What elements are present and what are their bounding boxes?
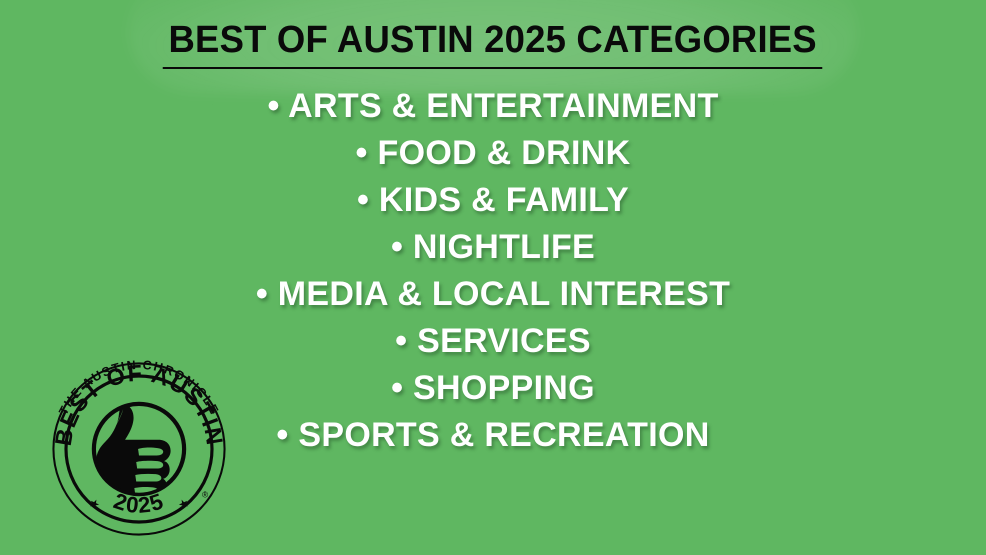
category-label: ARTS & ENTERTAINMENT: [288, 87, 718, 125]
category-label: SPORTS & RECREATION: [298, 416, 709, 454]
bullet-icon: •: [256, 275, 268, 313]
bullet-icon: •: [391, 369, 403, 407]
list-item: • KIDS & FAMILY: [0, 177, 986, 224]
category-label: SERVICES: [417, 322, 591, 360]
best-of-austin-badge: THE AUSTIN CHRONICLE BEST OF AUSTIN 2025…: [46, 356, 232, 542]
page-title: BEST OF AUSTIN 2025 CATEGORIES: [163, 18, 823, 69]
bullet-icon: •: [391, 228, 403, 266]
category-label: FOOD & DRINK: [378, 134, 631, 172]
category-label: NIGHTLIFE: [413, 228, 595, 266]
slide-canvas: BEST OF AUSTIN 2025 CATEGORIES • ARTS & …: [0, 0, 986, 555]
title-container: BEST OF AUSTIN 2025 CATEGORIES: [0, 18, 986, 69]
bullet-icon: •: [395, 322, 407, 360]
bullet-icon: •: [357, 181, 369, 219]
list-item: • MEDIA & LOCAL INTEREST: [0, 271, 986, 318]
bullet-icon: •: [276, 416, 288, 454]
category-label: SHOPPING: [413, 369, 595, 407]
list-item: • FOOD & DRINK: [0, 130, 986, 177]
list-item: • NIGHTLIFE: [0, 224, 986, 271]
category-label: KIDS & FAMILY: [379, 181, 629, 219]
bullet-icon: •: [356, 134, 368, 172]
badge-registered-mark: ®: [202, 489, 209, 499]
category-label: MEDIA & LOCAL INTEREST: [278, 275, 730, 313]
list-item: • ARTS & ENTERTAINMENT: [0, 83, 986, 130]
bullet-icon: •: [267, 87, 279, 125]
